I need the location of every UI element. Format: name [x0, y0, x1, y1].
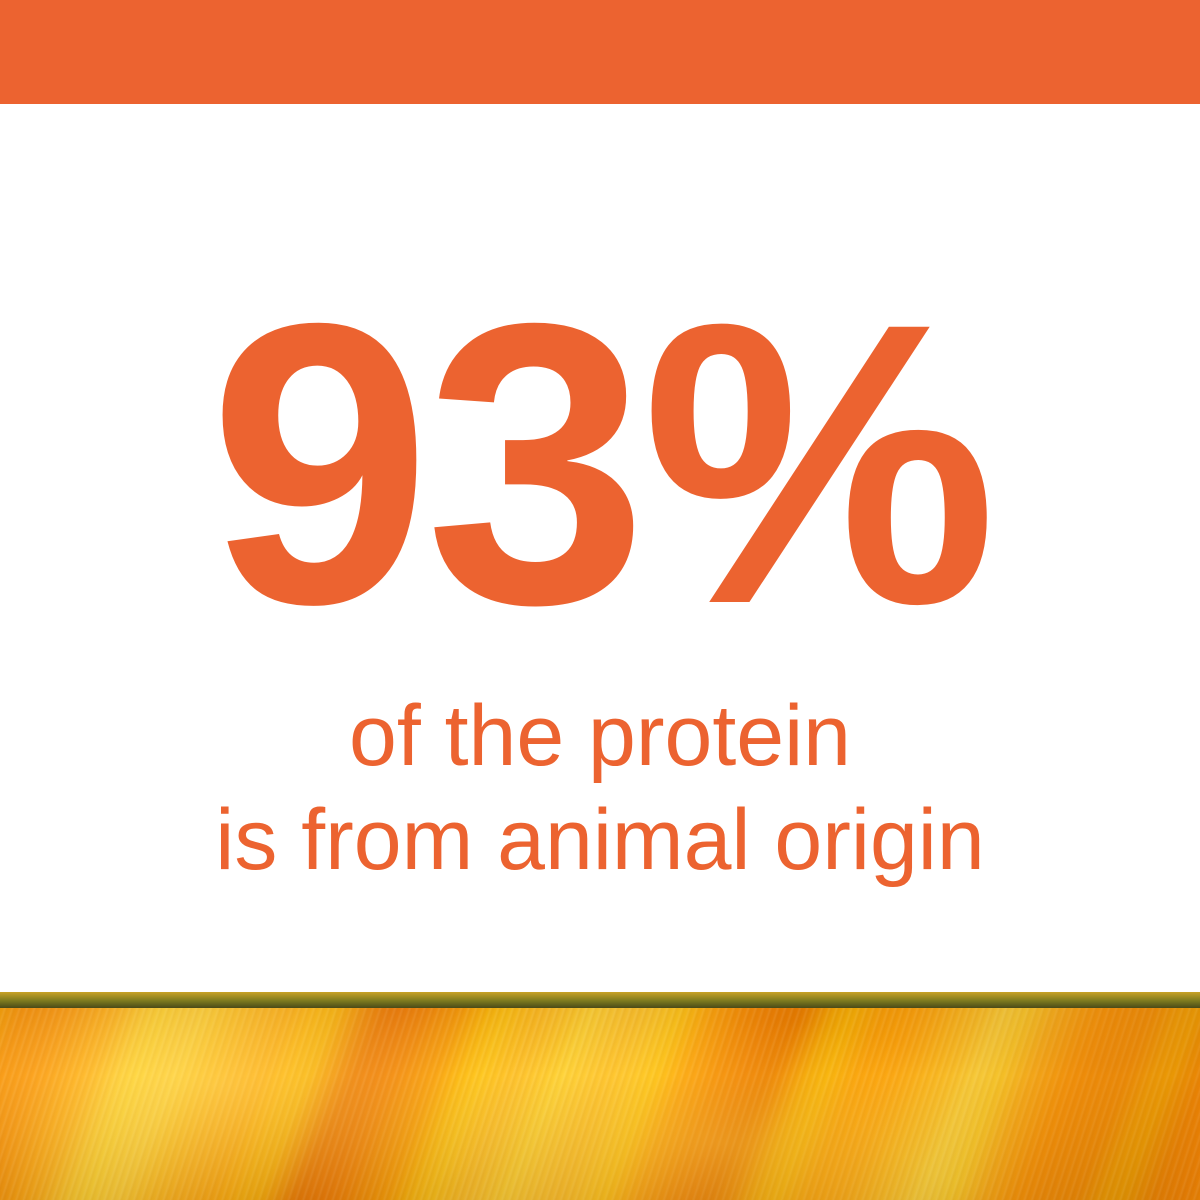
stat-value: 93%: [0, 264, 1200, 664]
gold-divider: [0, 992, 1200, 1008]
content-area: 93% of the protein is from animal origin: [0, 104, 1200, 992]
infographic-card: 93% of the protein is from animal origin: [0, 0, 1200, 1200]
caption-line-2: is from animal origin: [0, 788, 1200, 892]
photo-shading-layer: [0, 1008, 1200, 1200]
caption-text: of the protein is from animal origin: [0, 684, 1200, 892]
caption-line-1: of the protein: [0, 684, 1200, 788]
citrus-peel-photo: [0, 1008, 1200, 1200]
top-accent-bar: [0, 0, 1200, 104]
